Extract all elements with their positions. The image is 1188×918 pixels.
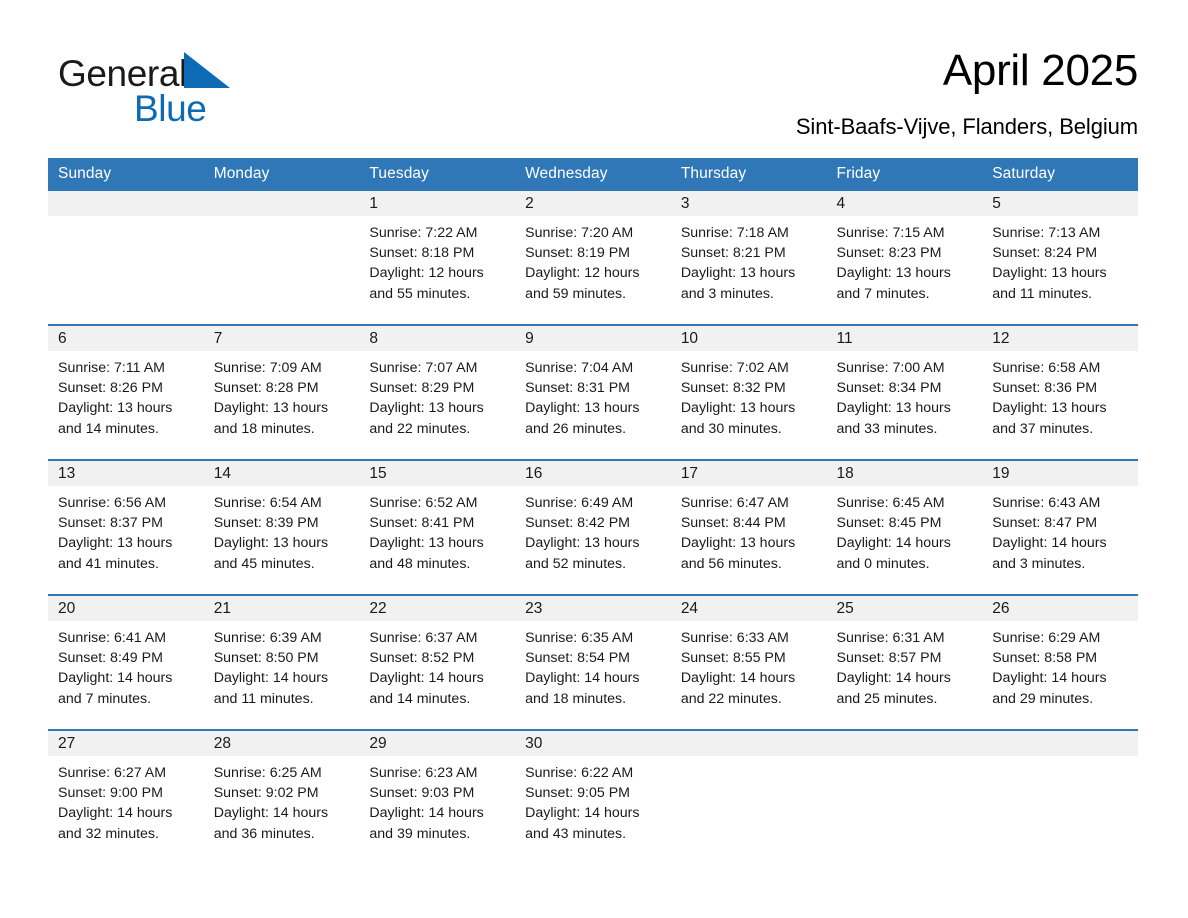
day-details: Sunrise: 7:20 AMSunset: 8:19 PMDaylight:… <box>515 216 671 304</box>
day-cell-inner: 23Sunrise: 6:35 AMSunset: 8:54 PMDayligh… <box>515 596 671 729</box>
daylight-text-line1: Daylight: 13 hours <box>525 533 661 553</box>
sunset-text: Sunset: 9:02 PM <box>214 783 350 803</box>
sunrise-text: Sunrise: 6:27 AM <box>58 763 194 783</box>
day-details: Sunrise: 6:27 AMSunset: 9:00 PMDaylight:… <box>48 756 204 844</box>
daylight-text-line2: and 22 minutes. <box>369 419 505 439</box>
daylight-text-line1: Daylight: 13 hours <box>681 533 817 553</box>
daylight-text-line1: Daylight: 12 hours <box>369 263 505 283</box>
day-cell-inner: 3Sunrise: 7:18 AMSunset: 8:21 PMDaylight… <box>671 191 827 324</box>
calendar-day-cell[interactable]: 7Sunrise: 7:09 AMSunset: 8:28 PMDaylight… <box>204 325 360 460</box>
sunset-text: Sunset: 9:03 PM <box>369 783 505 803</box>
logo-text-blue: Blue <box>134 88 206 129</box>
calendar-day-cell[interactable]: 14Sunrise: 6:54 AMSunset: 8:39 PMDayligh… <box>204 460 360 595</box>
day-details: Sunrise: 7:11 AMSunset: 8:26 PMDaylight:… <box>48 351 204 439</box>
day-details: Sunrise: 6:22 AMSunset: 9:05 PMDaylight:… <box>515 756 671 844</box>
day-number <box>48 191 204 216</box>
day-number: 9 <box>515 326 671 351</box>
sunset-text: Sunset: 8:21 PM <box>681 243 817 263</box>
day-number: 20 <box>48 596 204 621</box>
sunrise-text: Sunrise: 7:07 AM <box>369 358 505 378</box>
calendar-body: 1Sunrise: 7:22 AMSunset: 8:18 PMDaylight… <box>48 191 1138 864</box>
daylight-text-line1: Daylight: 14 hours <box>58 668 194 688</box>
daylight-text-line2: and 25 minutes. <box>837 689 973 709</box>
sunrise-text: Sunrise: 7:11 AM <box>58 358 194 378</box>
day-cell-inner: 21Sunrise: 6:39 AMSunset: 8:50 PMDayligh… <box>204 596 360 729</box>
day-cell-inner <box>827 731 983 864</box>
daylight-text-line2: and 3 minutes. <box>992 554 1128 574</box>
calendar-empty-cell <box>204 191 360 325</box>
sunrise-text: Sunrise: 6:25 AM <box>214 763 350 783</box>
sunset-text: Sunset: 8:50 PM <box>214 648 350 668</box>
page-title: April 2025 <box>378 44 1138 98</box>
day-details: Sunrise: 6:47 AMSunset: 8:44 PMDaylight:… <box>671 486 827 574</box>
day-details: Sunrise: 6:39 AMSunset: 8:50 PMDaylight:… <box>204 621 360 709</box>
daylight-text-line1: Daylight: 14 hours <box>525 803 661 823</box>
day-cell-inner: 10Sunrise: 7:02 AMSunset: 8:32 PMDayligh… <box>671 326 827 459</box>
daylight-text-line2: and 32 minutes. <box>58 824 194 844</box>
day-cell-inner: 22Sunrise: 6:37 AMSunset: 8:52 PMDayligh… <box>359 596 515 729</box>
sunrise-text: Sunrise: 7:00 AM <box>837 358 973 378</box>
daylight-text-line1: Daylight: 13 hours <box>58 533 194 553</box>
calendar-week-row: 27Sunrise: 6:27 AMSunset: 9:00 PMDayligh… <box>48 730 1138 864</box>
daylight-text-line1: Daylight: 13 hours <box>525 398 661 418</box>
page-subtitle: Sint-Baafs-Vijve, Flanders, Belgium <box>378 112 1138 142</box>
daylight-text-line1: Daylight: 14 hours <box>369 803 505 823</box>
day-details: Sunrise: 7:18 AMSunset: 8:21 PMDaylight:… <box>671 216 827 304</box>
sunset-text: Sunset: 8:41 PM <box>369 513 505 533</box>
weekday-header-friday: Friday <box>827 158 983 191</box>
calendar-empty-cell <box>671 730 827 864</box>
daylight-text-line1: Daylight: 13 hours <box>369 398 505 418</box>
sunrise-text: Sunrise: 6:52 AM <box>369 493 505 513</box>
day-number: 18 <box>827 461 983 486</box>
calendar-day-cell[interactable]: 4Sunrise: 7:15 AMSunset: 8:23 PMDaylight… <box>827 191 983 325</box>
calendar-day-cell[interactable]: 18Sunrise: 6:45 AMSunset: 8:45 PMDayligh… <box>827 460 983 595</box>
sunrise-text: Sunrise: 6:29 AM <box>992 628 1128 648</box>
sunset-text: Sunset: 8:18 PM <box>369 243 505 263</box>
sunrise-text: Sunrise: 6:56 AM <box>58 493 194 513</box>
day-details: Sunrise: 7:04 AMSunset: 8:31 PMDaylight:… <box>515 351 671 439</box>
day-details: Sunrise: 6:23 AMSunset: 9:03 PMDaylight:… <box>359 756 515 844</box>
sunset-text: Sunset: 9:00 PM <box>58 783 194 803</box>
sunset-text: Sunset: 8:37 PM <box>58 513 194 533</box>
daylight-text-line1: Daylight: 13 hours <box>58 398 194 418</box>
daylight-text-line2: and 55 minutes. <box>369 284 505 304</box>
calendar-week-row: 20Sunrise: 6:41 AMSunset: 8:49 PMDayligh… <box>48 595 1138 730</box>
sunrise-text: Sunrise: 7:15 AM <box>837 223 973 243</box>
calendar-day-cell[interactable]: 24Sunrise: 6:33 AMSunset: 8:55 PMDayligh… <box>671 595 827 730</box>
calendar-week-row: 1Sunrise: 7:22 AMSunset: 8:18 PMDaylight… <box>48 191 1138 325</box>
daylight-text-line2: and 36 minutes. <box>214 824 350 844</box>
calendar-day-cell[interactable]: 11Sunrise: 7:00 AMSunset: 8:34 PMDayligh… <box>827 325 983 460</box>
sunset-text: Sunset: 8:26 PM <box>58 378 194 398</box>
day-cell-inner: 9Sunrise: 7:04 AMSunset: 8:31 PMDaylight… <box>515 326 671 459</box>
calendar-day-cell[interactable]: 6Sunrise: 7:11 AMSunset: 8:26 PMDaylight… <box>48 325 204 460</box>
calendar-day-cell[interactable]: 27Sunrise: 6:27 AMSunset: 9:00 PMDayligh… <box>48 730 204 864</box>
day-cell-inner: 27Sunrise: 6:27 AMSunset: 9:00 PMDayligh… <box>48 731 204 864</box>
sunset-text: Sunset: 8:28 PM <box>214 378 350 398</box>
daylight-text-line2: and 59 minutes. <box>525 284 661 304</box>
day-details: Sunrise: 6:43 AMSunset: 8:47 PMDaylight:… <box>982 486 1138 574</box>
day-details: Sunrise: 7:02 AMSunset: 8:32 PMDaylight:… <box>671 351 827 439</box>
daylight-text-line2: and 45 minutes. <box>214 554 350 574</box>
day-cell-inner: 24Sunrise: 6:33 AMSunset: 8:55 PMDayligh… <box>671 596 827 729</box>
daylight-text-line1: Daylight: 13 hours <box>681 398 817 418</box>
calendar-header-row: Sunday Monday Tuesday Wednesday Thursday… <box>48 158 1138 191</box>
daylight-text-line2: and 33 minutes. <box>837 419 973 439</box>
sunset-text: Sunset: 8:23 PM <box>837 243 973 263</box>
daylight-text-line1: Daylight: 13 hours <box>214 533 350 553</box>
sunset-text: Sunset: 8:29 PM <box>369 378 505 398</box>
weekday-header-saturday: Saturday <box>982 158 1138 191</box>
day-cell-inner: 29Sunrise: 6:23 AMSunset: 9:03 PMDayligh… <box>359 731 515 864</box>
day-details: Sunrise: 6:35 AMSunset: 8:54 PMDaylight:… <box>515 621 671 709</box>
day-number: 10 <box>671 326 827 351</box>
sunrise-text: Sunrise: 6:23 AM <box>369 763 505 783</box>
calendar-day-cell[interactable]: 22Sunrise: 6:37 AMSunset: 8:52 PMDayligh… <box>359 595 515 730</box>
day-number: 17 <box>671 461 827 486</box>
sunrise-text: Sunrise: 7:18 AM <box>681 223 817 243</box>
daylight-text-line1: Daylight: 12 hours <box>525 263 661 283</box>
sunrise-text: Sunrise: 6:31 AM <box>837 628 973 648</box>
day-number: 21 <box>204 596 360 621</box>
daylight-text-line1: Daylight: 13 hours <box>992 398 1128 418</box>
calendar-page: General Blue April 2025 Sint-Baafs-Vijve… <box>0 0 1188 918</box>
calendar-day-cell[interactable]: 21Sunrise: 6:39 AMSunset: 8:50 PMDayligh… <box>204 595 360 730</box>
day-number: 27 <box>48 731 204 756</box>
daylight-text-line2: and 11 minutes. <box>992 284 1128 304</box>
calendar-week-row: 13Sunrise: 6:56 AMSunset: 8:37 PMDayligh… <box>48 460 1138 595</box>
sunset-text: Sunset: 9:05 PM <box>525 783 661 803</box>
daylight-text-line1: Daylight: 14 hours <box>369 668 505 688</box>
daylight-text-line2: and 18 minutes. <box>214 419 350 439</box>
sunrise-text: Sunrise: 7:22 AM <box>369 223 505 243</box>
day-details: Sunrise: 6:31 AMSunset: 8:57 PMDaylight:… <box>827 621 983 709</box>
sunrise-text: Sunrise: 6:43 AM <box>992 493 1128 513</box>
day-cell-inner: 26Sunrise: 6:29 AMSunset: 8:58 PMDayligh… <box>982 596 1138 729</box>
daylight-text-line2: and 39 minutes. <box>369 824 505 844</box>
day-details: Sunrise: 7:22 AMSunset: 8:18 PMDaylight:… <box>359 216 515 304</box>
day-cell-inner: 14Sunrise: 6:54 AMSunset: 8:39 PMDayligh… <box>204 461 360 594</box>
calendar-day-cell[interactable]: 10Sunrise: 7:02 AMSunset: 8:32 PMDayligh… <box>671 325 827 460</box>
sunrise-text: Sunrise: 7:04 AM <box>525 358 661 378</box>
day-cell-inner: 5Sunrise: 7:13 AMSunset: 8:24 PMDaylight… <box>982 191 1138 324</box>
calendar-day-cell[interactable]: 9Sunrise: 7:04 AMSunset: 8:31 PMDaylight… <box>515 325 671 460</box>
day-number <box>982 731 1138 756</box>
daylight-text-line2: and 41 minutes. <box>58 554 194 574</box>
calendar-day-cell[interactable]: 16Sunrise: 6:49 AMSunset: 8:42 PMDayligh… <box>515 460 671 595</box>
sunset-text: Sunset: 8:54 PM <box>525 648 661 668</box>
sunrise-text: Sunrise: 6:22 AM <box>525 763 661 783</box>
day-cell-inner: 8Sunrise: 7:07 AMSunset: 8:29 PMDaylight… <box>359 326 515 459</box>
page-masthead: General Blue April 2025 Sint-Baafs-Vijve… <box>48 44 1138 150</box>
day-number: 29 <box>359 731 515 756</box>
day-cell-inner: 1Sunrise: 7:22 AMSunset: 8:18 PMDaylight… <box>359 191 515 324</box>
calendar-day-cell[interactable]: 28Sunrise: 6:25 AMSunset: 9:02 PMDayligh… <box>204 730 360 864</box>
day-details: Sunrise: 6:33 AMSunset: 8:55 PMDaylight:… <box>671 621 827 709</box>
weekday-header-tuesday: Tuesday <box>359 158 515 191</box>
day-number: 4 <box>827 191 983 216</box>
sunrise-text: Sunrise: 6:47 AM <box>681 493 817 513</box>
weekday-header-wednesday: Wednesday <box>515 158 671 191</box>
day-number <box>827 731 983 756</box>
sunrise-text: Sunrise: 7:09 AM <box>214 358 350 378</box>
day-number: 24 <box>671 596 827 621</box>
daylight-text-line1: Daylight: 13 hours <box>837 263 973 283</box>
day-number: 13 <box>48 461 204 486</box>
calendar-day-cell[interactable]: 2Sunrise: 7:20 AMSunset: 8:19 PMDaylight… <box>515 191 671 325</box>
day-cell-inner: 13Sunrise: 6:56 AMSunset: 8:37 PMDayligh… <box>48 461 204 594</box>
daylight-text-line2: and 37 minutes. <box>992 419 1128 439</box>
calendar-day-cell[interactable]: 13Sunrise: 6:56 AMSunset: 8:37 PMDayligh… <box>48 460 204 595</box>
sunrise-text: Sunrise: 6:58 AM <box>992 358 1128 378</box>
daylight-text-line1: Daylight: 14 hours <box>681 668 817 688</box>
sunrise-text: Sunrise: 7:13 AM <box>992 223 1128 243</box>
daylight-text-line2: and 22 minutes. <box>681 689 817 709</box>
calendar-day-cell[interactable]: 30Sunrise: 6:22 AMSunset: 9:05 PMDayligh… <box>515 730 671 864</box>
general-blue-logo[interactable]: General Blue <box>58 52 358 144</box>
daylight-text-line1: Daylight: 14 hours <box>992 533 1128 553</box>
sunrise-text: Sunrise: 6:54 AM <box>214 493 350 513</box>
weekday-header-sunday: Sunday <box>48 158 204 191</box>
day-number: 26 <box>982 596 1138 621</box>
daylight-text-line1: Daylight: 13 hours <box>369 533 505 553</box>
sunset-text: Sunset: 8:31 PM <box>525 378 661 398</box>
day-details: Sunrise: 6:49 AMSunset: 8:42 PMDaylight:… <box>515 486 671 574</box>
day-number: 28 <box>204 731 360 756</box>
sunset-text: Sunset: 8:58 PM <box>992 648 1128 668</box>
day-number: 1 <box>359 191 515 216</box>
calendar-day-cell[interactable]: 26Sunrise: 6:29 AMSunset: 8:58 PMDayligh… <box>982 595 1138 730</box>
day-details: Sunrise: 6:54 AMSunset: 8:39 PMDaylight:… <box>204 486 360 574</box>
daylight-text-line1: Daylight: 14 hours <box>214 668 350 688</box>
day-number: 8 <box>359 326 515 351</box>
sunrise-text: Sunrise: 6:49 AM <box>525 493 661 513</box>
day-details: Sunrise: 6:58 AMSunset: 8:36 PMDaylight:… <box>982 351 1138 439</box>
day-number: 16 <box>515 461 671 486</box>
daylight-text-line1: Daylight: 14 hours <box>525 668 661 688</box>
sunrise-text: Sunrise: 6:35 AM <box>525 628 661 648</box>
daylight-text-line1: Daylight: 13 hours <box>214 398 350 418</box>
daylight-text-line1: Daylight: 14 hours <box>837 533 973 553</box>
sunset-text: Sunset: 8:36 PM <box>992 378 1128 398</box>
sunset-text: Sunset: 8:47 PM <box>992 513 1128 533</box>
day-cell-inner: 2Sunrise: 7:20 AMSunset: 8:19 PMDaylight… <box>515 191 671 324</box>
day-number <box>204 191 360 216</box>
sunset-text: Sunset: 8:52 PM <box>369 648 505 668</box>
day-number: 30 <box>515 731 671 756</box>
daylight-text-line1: Daylight: 14 hours <box>837 668 973 688</box>
sunset-text: Sunset: 8:34 PM <box>837 378 973 398</box>
day-details: Sunrise: 7:13 AMSunset: 8:24 PMDaylight:… <box>982 216 1138 304</box>
logo-bottom-row: Blue <box>58 87 358 131</box>
calendar-empty-cell <box>48 191 204 325</box>
calendar-day-cell[interactable]: 8Sunrise: 7:07 AMSunset: 8:29 PMDaylight… <box>359 325 515 460</box>
daylight-text-line1: Daylight: 14 hours <box>992 668 1128 688</box>
day-cell-inner: 16Sunrise: 6:49 AMSunset: 8:42 PMDayligh… <box>515 461 671 594</box>
calendar-day-cell[interactable]: 20Sunrise: 6:41 AMSunset: 8:49 PMDayligh… <box>48 595 204 730</box>
calendar-day-cell[interactable]: 23Sunrise: 6:35 AMSunset: 8:54 PMDayligh… <box>515 595 671 730</box>
day-details: Sunrise: 7:07 AMSunset: 8:29 PMDaylight:… <box>359 351 515 439</box>
calendar-day-cell[interactable]: 17Sunrise: 6:47 AMSunset: 8:44 PMDayligh… <box>671 460 827 595</box>
day-number: 11 <box>827 326 983 351</box>
day-cell-inner: 11Sunrise: 7:00 AMSunset: 8:34 PMDayligh… <box>827 326 983 459</box>
sunrise-text: Sunrise: 6:45 AM <box>837 493 973 513</box>
day-cell-inner: 12Sunrise: 6:58 AMSunset: 8:36 PMDayligh… <box>982 326 1138 459</box>
daylight-text-line2: and 3 minutes. <box>681 284 817 304</box>
daylight-text-line2: and 7 minutes. <box>58 689 194 709</box>
day-cell-inner <box>48 191 204 324</box>
day-cell-inner <box>982 731 1138 864</box>
sunset-text: Sunset: 8:55 PM <box>681 648 817 668</box>
daylight-text-line2: and 14 minutes. <box>369 689 505 709</box>
day-cell-inner: 7Sunrise: 7:09 AMSunset: 8:28 PMDaylight… <box>204 326 360 459</box>
day-cell-inner <box>671 731 827 864</box>
daylight-text-line1: Daylight: 13 hours <box>837 398 973 418</box>
day-details: Sunrise: 6:45 AMSunset: 8:45 PMDaylight:… <box>827 486 983 574</box>
day-number: 7 <box>204 326 360 351</box>
daylight-text-line2: and 26 minutes. <box>525 419 661 439</box>
calendar-day-cell[interactable]: 25Sunrise: 6:31 AMSunset: 8:57 PMDayligh… <box>827 595 983 730</box>
month-calendar-table: Sunday Monday Tuesday Wednesday Thursday… <box>48 158 1138 864</box>
sunset-text: Sunset: 8:44 PM <box>681 513 817 533</box>
calendar-day-cell[interactable]: 5Sunrise: 7:13 AMSunset: 8:24 PMDaylight… <box>982 191 1138 325</box>
day-details: Sunrise: 7:15 AMSunset: 8:23 PMDaylight:… <box>827 216 983 304</box>
day-number: 25 <box>827 596 983 621</box>
day-number: 6 <box>48 326 204 351</box>
day-number: 5 <box>982 191 1138 216</box>
daylight-text-line2: and 30 minutes. <box>681 419 817 439</box>
day-number: 22 <box>359 596 515 621</box>
weekday-header-monday: Monday <box>204 158 360 191</box>
calendar-day-cell[interactable]: 1Sunrise: 7:22 AMSunset: 8:18 PMDaylight… <box>359 191 515 325</box>
day-cell-inner: 19Sunrise: 6:43 AMSunset: 8:47 PMDayligh… <box>982 461 1138 594</box>
day-details: Sunrise: 7:09 AMSunset: 8:28 PMDaylight:… <box>204 351 360 439</box>
calendar-day-cell[interactable]: 19Sunrise: 6:43 AMSunset: 8:47 PMDayligh… <box>982 460 1138 595</box>
day-number: 2 <box>515 191 671 216</box>
title-block: April 2025 Sint-Baafs-Vijve, Flanders, B… <box>378 44 1138 142</box>
day-cell-inner: 20Sunrise: 6:41 AMSunset: 8:49 PMDayligh… <box>48 596 204 729</box>
calendar-week-row: 6Sunrise: 7:11 AMSunset: 8:26 PMDaylight… <box>48 325 1138 460</box>
day-details: Sunrise: 6:25 AMSunset: 9:02 PMDaylight:… <box>204 756 360 844</box>
calendar-day-cell[interactable]: 12Sunrise: 6:58 AMSunset: 8:36 PMDayligh… <box>982 325 1138 460</box>
day-details: Sunrise: 7:00 AMSunset: 8:34 PMDaylight:… <box>827 351 983 439</box>
calendar-empty-cell <box>827 730 983 864</box>
day-number: 19 <box>982 461 1138 486</box>
day-details: Sunrise: 6:52 AMSunset: 8:41 PMDaylight:… <box>359 486 515 574</box>
daylight-text-line2: and 18 minutes. <box>525 689 661 709</box>
calendar-day-cell[interactable]: 15Sunrise: 6:52 AMSunset: 8:41 PMDayligh… <box>359 460 515 595</box>
daylight-text-line1: Daylight: 14 hours <box>58 803 194 823</box>
day-cell-inner: 15Sunrise: 6:52 AMSunset: 8:41 PMDayligh… <box>359 461 515 594</box>
sunrise-text: Sunrise: 7:20 AM <box>525 223 661 243</box>
day-number: 23 <box>515 596 671 621</box>
weekday-header-thursday: Thursday <box>671 158 827 191</box>
day-details: Sunrise: 6:29 AMSunset: 8:58 PMDaylight:… <box>982 621 1138 709</box>
daylight-text-line1: Daylight: 13 hours <box>992 263 1128 283</box>
day-number: 14 <box>204 461 360 486</box>
day-number: 15 <box>359 461 515 486</box>
day-details: Sunrise: 6:56 AMSunset: 8:37 PMDaylight:… <box>48 486 204 574</box>
daylight-text-line2: and 56 minutes. <box>681 554 817 574</box>
sunset-text: Sunset: 8:32 PM <box>681 378 817 398</box>
sunrise-text: Sunrise: 6:33 AM <box>681 628 817 648</box>
daylight-text-line1: Daylight: 14 hours <box>214 803 350 823</box>
calendar-day-cell[interactable]: 3Sunrise: 7:18 AMSunset: 8:21 PMDaylight… <box>671 191 827 325</box>
day-cell-inner <box>204 191 360 324</box>
daylight-text-line2: and 0 minutes. <box>837 554 973 574</box>
calendar-day-cell[interactable]: 29Sunrise: 6:23 AMSunset: 9:03 PMDayligh… <box>359 730 515 864</box>
day-cell-inner: 6Sunrise: 7:11 AMSunset: 8:26 PMDaylight… <box>48 326 204 459</box>
day-cell-inner: 30Sunrise: 6:22 AMSunset: 9:05 PMDayligh… <box>515 731 671 864</box>
sunset-text: Sunset: 8:57 PM <box>837 648 973 668</box>
daylight-text-line2: and 43 minutes. <box>525 824 661 844</box>
day-cell-inner: 17Sunrise: 6:47 AMSunset: 8:44 PMDayligh… <box>671 461 827 594</box>
day-cell-inner: 28Sunrise: 6:25 AMSunset: 9:02 PMDayligh… <box>204 731 360 864</box>
day-details: Sunrise: 6:37 AMSunset: 8:52 PMDaylight:… <box>359 621 515 709</box>
sunset-text: Sunset: 8:45 PM <box>837 513 973 533</box>
sunset-text: Sunset: 8:19 PM <box>525 243 661 263</box>
sunset-text: Sunset: 8:42 PM <box>525 513 661 533</box>
day-cell-inner: 4Sunrise: 7:15 AMSunset: 8:23 PMDaylight… <box>827 191 983 324</box>
sunset-text: Sunset: 8:49 PM <box>58 648 194 668</box>
day-number: 12 <box>982 326 1138 351</box>
daylight-text-line2: and 14 minutes. <box>58 419 194 439</box>
day-cell-inner: 18Sunrise: 6:45 AMSunset: 8:45 PMDayligh… <box>827 461 983 594</box>
sunrise-text: Sunrise: 6:41 AM <box>58 628 194 648</box>
daylight-text-line1: Daylight: 13 hours <box>681 263 817 283</box>
day-number <box>671 731 827 756</box>
daylight-text-line2: and 48 minutes. <box>369 554 505 574</box>
daylight-text-line2: and 7 minutes. <box>837 284 973 304</box>
day-details: Sunrise: 6:41 AMSunset: 8:49 PMDaylight:… <box>48 621 204 709</box>
day-number: 3 <box>671 191 827 216</box>
daylight-text-line2: and 29 minutes. <box>992 689 1128 709</box>
calendar-empty-cell <box>982 730 1138 864</box>
sunrise-text: Sunrise: 6:37 AM <box>369 628 505 648</box>
daylight-text-line2: and 11 minutes. <box>214 689 350 709</box>
sunset-text: Sunset: 8:39 PM <box>214 513 350 533</box>
daylight-text-line2: and 52 minutes. <box>525 554 661 574</box>
day-cell-inner: 25Sunrise: 6:31 AMSunset: 8:57 PMDayligh… <box>827 596 983 729</box>
sunrise-text: Sunrise: 7:02 AM <box>681 358 817 378</box>
sunrise-text: Sunrise: 6:39 AM <box>214 628 350 648</box>
sunset-text: Sunset: 8:24 PM <box>992 243 1128 263</box>
